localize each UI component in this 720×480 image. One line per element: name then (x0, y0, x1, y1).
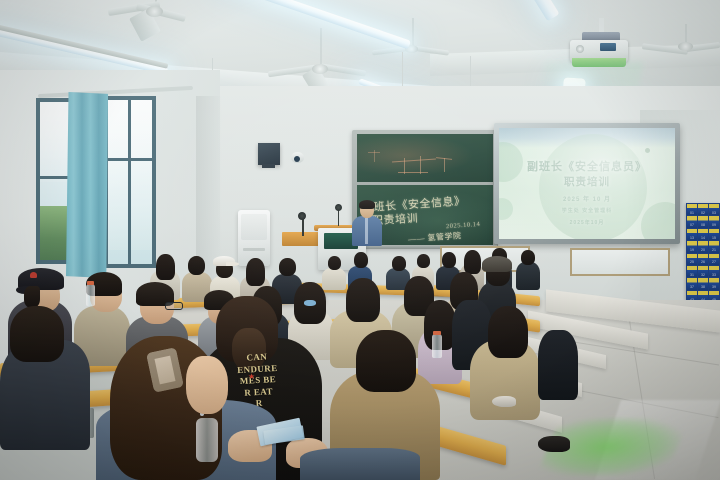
pocket-25[interactable]: 25 (687, 254, 697, 265)
classroom-photo: 副班长《安全信息》 职责培训 2025.10.14 —— 氢管学院 副班长《安全… (0, 0, 720, 480)
hair-tie (304, 300, 316, 306)
hoodie-star-1: ★ (248, 372, 255, 381)
pocket-09[interactable]: 09 (709, 216, 719, 227)
pocket-14[interactable]: 14 (698, 229, 708, 240)
water-bottle-3[interactable] (196, 418, 218, 462)
pocket-37[interactable]: 37 (687, 278, 697, 289)
pocket-15[interactable]: 15 (709, 229, 719, 240)
water-bottle-1[interactable] (86, 284, 95, 306)
pocket-19[interactable]: 19 (687, 241, 697, 252)
pocket-33[interactable]: 33 (709, 266, 719, 277)
phone-pocket-chart[interactable]: 0102030708091314151920212526273132333738… (686, 203, 720, 303)
water-bottle-cap-1 (87, 281, 94, 285)
slide-title-line2: 职责培训 (499, 175, 675, 189)
mic-stand (302, 218, 304, 236)
cap-brim (226, 262, 239, 266)
pocket-31[interactable]: 31 (687, 266, 697, 277)
forehead-skin (186, 356, 228, 414)
water-bottle-2[interactable] (432, 334, 442, 358)
pocket-39[interactable]: 39 (709, 278, 719, 289)
pocket-26[interactable]: 26 (698, 254, 708, 265)
slide-title-line1: 副班长《安全信息员》 (499, 160, 675, 175)
air-conditioner-vent (243, 248, 265, 251)
window-curtain[interactable] (66, 92, 108, 278)
air-conditioner-panel (241, 214, 267, 240)
slide-footer-line2: 2025年10月 (499, 219, 675, 227)
slide-dot (645, 148, 650, 153)
microphone-icon (298, 212, 306, 220)
pocket-03[interactable]: 03 (709, 204, 719, 215)
blackboard-upper-panel (357, 134, 493, 182)
slide-footer-line1: 学生处 安全管理科 (499, 207, 675, 215)
pocket-02[interactable]: 02 (698, 204, 708, 215)
pocket-20[interactable]: 20 (698, 241, 708, 252)
wall-notice-frame-2 (570, 248, 670, 276)
pocket-13[interactable]: 13 (687, 229, 697, 240)
pocket-08[interactable]: 08 (698, 216, 708, 227)
beanie-hat (482, 256, 512, 272)
wall-speaker (258, 143, 280, 165)
pocket-07[interactable]: 07 (687, 216, 697, 227)
pocket-32[interactable]: 32 (698, 266, 708, 277)
speaker-bracket (262, 164, 275, 168)
window-right-mullion-v (128, 100, 131, 264)
glasses-icon (165, 302, 183, 310)
shoe-1 (492, 396, 516, 407)
pocket-27[interactable]: 27 (709, 254, 719, 265)
slide-subtitle: 2025 年 10 月 (499, 194, 675, 203)
microphone-icon-right (335, 204, 342, 211)
pocket-01[interactable]: 01 (687, 204, 697, 215)
ponytail (232, 328, 266, 372)
camera-lens-icon (294, 156, 300, 162)
hair-under-cap (24, 286, 40, 308)
cap-logo (30, 272, 37, 278)
water-bottle-cap-2 (433, 331, 441, 335)
slide-text-block: 副班长《安全信息员》 职责培训 2025 年 10 月 学生处 安全管理科 20… (499, 160, 675, 227)
pocket-38[interactable]: 38 (698, 278, 708, 289)
shoe-2 (538, 436, 570, 452)
pocket-21[interactable]: 21 (709, 241, 719, 252)
